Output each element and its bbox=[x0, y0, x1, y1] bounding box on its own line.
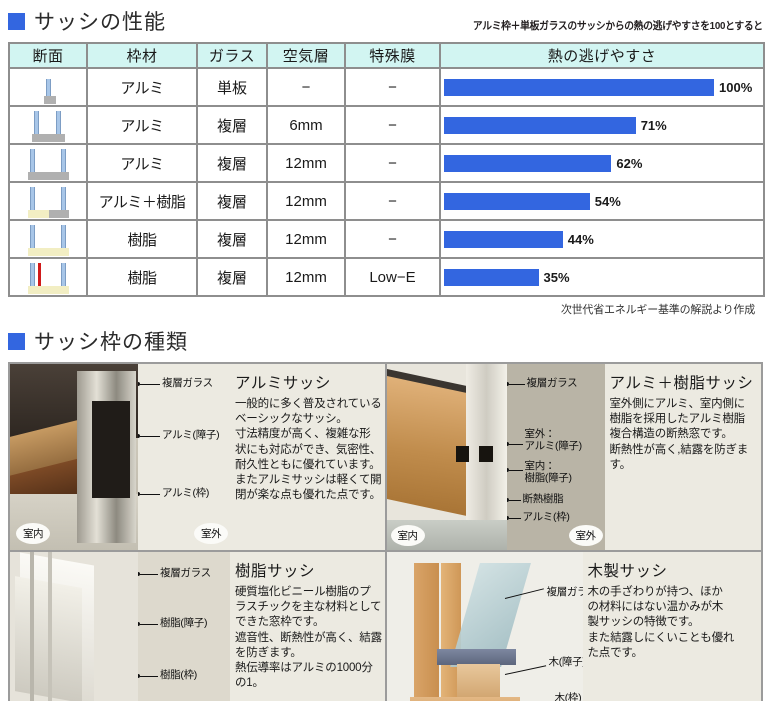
panel-1-text: アルミサッシ 一般的に多く普及されているベーシックなサッシ。寸法精度が高く、複雑… bbox=[230, 364, 385, 550]
cell-cross-section bbox=[9, 144, 87, 182]
panel-aluminium-sash[interactable]: 室内 複層ガラス アルミ(障子) アルミ(枠) 室外 アルミサッシ 一般的に多く… bbox=[10, 364, 385, 550]
performance-table-body: アルミ単板−−100%アルミ複層6mm−71%アルミ複層12mm−62%アルミ＋… bbox=[9, 68, 764, 296]
anno-2-5: 樹脂(障子) bbox=[525, 472, 572, 484]
cell-frame: アルミ bbox=[87, 68, 197, 106]
indoor-badge-2: 室内 bbox=[391, 525, 425, 546]
panel-3-title: 樹脂サッシ bbox=[235, 559, 379, 581]
cross-section-icon bbox=[20, 109, 76, 142]
performance-section-heading: サッシの性能 bbox=[0, 6, 166, 36]
performance-section-title: サッシの性能 bbox=[34, 6, 166, 36]
panel-4-title: 木製サッシ bbox=[588, 559, 756, 581]
cell-film: Low−E bbox=[345, 258, 440, 296]
cell-frame: アルミ bbox=[87, 144, 197, 182]
performance-section: サッシの性能 アルミ枠＋単板ガラスのサッシからの熱の逃げやすさを100とすると … bbox=[0, 0, 769, 317]
cross-section-icon bbox=[20, 185, 76, 218]
outdoor-badge-2: 室外 bbox=[569, 525, 603, 546]
heat-loss-bar bbox=[444, 269, 539, 286]
col-header-film: 特殊膜 bbox=[345, 43, 440, 68]
blue-square-bullet-icon bbox=[8, 333, 25, 350]
bar-value-label: 54% bbox=[590, 194, 621, 209]
col-header-frame: 枠材 bbox=[87, 43, 197, 68]
sash-types-grid: 室内 複層ガラス アルミ(障子) アルミ(枠) 室外 アルミサッシ 一般的に多く… bbox=[8, 362, 763, 701]
col-header-section: 断面 bbox=[9, 43, 87, 68]
wooden-sash-photo: 複層ガラス 木(障子) 木(枠) bbox=[387, 552, 583, 701]
aluminium-sash-photo: 室内 bbox=[10, 364, 138, 550]
cross-section-icon bbox=[20, 147, 76, 180]
cell-heat-loss-bar: 71% bbox=[440, 106, 764, 144]
cell-air: − bbox=[267, 68, 345, 106]
cell-air: 6mm bbox=[267, 106, 345, 144]
cell-glass: 複層 bbox=[197, 258, 267, 296]
panel-3-text: 樹脂サッシ 硬質塩化ビニール樹脂のプラスチックを主な材料としてできた窓枠です。遮… bbox=[230, 552, 385, 701]
heat-loss-bar bbox=[444, 231, 563, 248]
panel-2-text: アルミ＋樹脂サッシ 室外側にアルミ、室内側に樹脂を採用したアルミ樹脂複合構造の断… bbox=[605, 364, 762, 550]
col-header-air: 空気層 bbox=[267, 43, 345, 68]
performance-note: アルミ枠＋単板ガラスのサッシからの熱の逃げやすさを100とすると bbox=[473, 18, 763, 36]
bar-row: 35% bbox=[444, 269, 759, 286]
cell-heat-loss-bar: 44% bbox=[440, 220, 764, 258]
cell-glass: 複層 bbox=[197, 144, 267, 182]
bar-value-label: 100% bbox=[714, 80, 752, 95]
col-header-heatloss: 熱の逃げやすさ bbox=[440, 43, 764, 68]
types-section-heading: サッシ枠の種類 bbox=[0, 326, 769, 356]
bar-row: 71% bbox=[444, 117, 759, 134]
table-row: アルミ＋樹脂複層12mm−54% bbox=[9, 182, 764, 220]
cell-air: 12mm bbox=[267, 220, 345, 258]
anno-4-1: 複層ガラス bbox=[547, 586, 583, 598]
cell-glass: 複層 bbox=[197, 106, 267, 144]
aluminium-sash-annotations: 複層ガラス アルミ(障子) アルミ(枠) 室外 bbox=[138, 364, 230, 550]
sash-types-section: サッシ枠の種類 室内 複層ガラス アルミ(障子) アルミ(枠) 室外 bbox=[0, 326, 769, 701]
resin-sash-photo: 室内 bbox=[10, 552, 138, 701]
panel-4-text: 木製サッシ 木の手ざわりが持つ、ほかの材料にはない温かみが木製サッシの特徴です。… bbox=[583, 552, 762, 701]
panel-wooden-sash[interactable]: 複層ガラス 木(障子) 木(枠) 木製サッシ 木の手ざわりが持つ、ほかの材料には… bbox=[387, 552, 762, 701]
cell-cross-section bbox=[9, 220, 87, 258]
resin-sash-annotations: 複層ガラス 樹脂(障子) 樹脂(枠) 室外 bbox=[138, 552, 230, 701]
cell-film: − bbox=[345, 144, 440, 182]
table-header-row: 断面 枠材 ガラス 空気層 特殊膜 熱の逃げやすさ bbox=[9, 43, 764, 68]
cell-heat-loss-bar: 62% bbox=[440, 144, 764, 182]
cell-frame: 樹脂 bbox=[87, 220, 197, 258]
outdoor-badge-1: 室外 bbox=[194, 523, 228, 544]
anno-2-3: アルミ(障子) bbox=[525, 440, 582, 452]
bar-row: 100% bbox=[444, 79, 759, 96]
cell-glass: 複層 bbox=[197, 182, 267, 220]
cell-frame: アルミ bbox=[87, 106, 197, 144]
panel-1-desc: 一般的に多く普及されているベーシックなサッシ。寸法精度が高く、複雑な形状にも対応… bbox=[235, 397, 379, 503]
anno-1-1: 複層ガラス bbox=[162, 377, 213, 389]
cell-heat-loss-bar: 35% bbox=[440, 258, 764, 296]
anno-3-2: 樹脂(障子) bbox=[160, 617, 207, 629]
aluminium-resin-sash-photo: 室内 bbox=[387, 364, 507, 550]
bar-value-label: 35% bbox=[539, 270, 570, 285]
table-row: 樹脂複層12mm−44% bbox=[9, 220, 764, 258]
col-header-glass: ガラス bbox=[197, 43, 267, 68]
cell-frame: アルミ＋樹脂 bbox=[87, 182, 197, 220]
panel-resin-sash[interactable]: 室内 複層ガラス 樹脂(障子) 樹脂(枠) 室外 樹脂サッシ 硬質塩化ビニール樹… bbox=[10, 552, 385, 701]
performance-header-row: サッシの性能 アルミ枠＋単板ガラスのサッシからの熱の逃げやすさを100とすると bbox=[0, 6, 769, 36]
bar-value-label: 62% bbox=[611, 156, 642, 171]
panel-3-desc: 硬質塩化ビニール樹脂のプラスチックを主な材料としてできた窓枠です。遮音性、断熱性… bbox=[235, 585, 379, 691]
performance-table: 断面 枠材 ガラス 空気層 特殊膜 熱の逃げやすさ アルミ単板−−100%アルミ… bbox=[8, 42, 765, 297]
cell-air: 12mm bbox=[267, 144, 345, 182]
panel-1-title: アルミサッシ bbox=[235, 371, 379, 393]
bar-value-label: 71% bbox=[636, 118, 667, 133]
cell-cross-section bbox=[9, 106, 87, 144]
anno-3-1: 複層ガラス bbox=[160, 567, 211, 579]
anno-4-3: 木(枠) bbox=[555, 692, 582, 701]
heat-loss-bar bbox=[444, 79, 714, 96]
heat-loss-bar bbox=[444, 155, 611, 172]
performance-table-wrap: 断面 枠材 ガラス 空気層 特殊膜 熱の逃げやすさ アルミ単板−−100%アルミ… bbox=[0, 36, 769, 317]
cell-glass: 複層 bbox=[197, 220, 267, 258]
cell-frame: 樹脂 bbox=[87, 258, 197, 296]
cell-glass: 単板 bbox=[197, 68, 267, 106]
cell-film: − bbox=[345, 182, 440, 220]
cell-cross-section bbox=[9, 182, 87, 220]
anno-1-2: アルミ(障子) bbox=[162, 429, 219, 441]
anno-1-3: アルミ(枠) bbox=[162, 487, 209, 499]
cross-section-icon bbox=[20, 71, 76, 104]
cell-heat-loss-bar: 100% bbox=[440, 68, 764, 106]
anno-2-6: 断熱樹脂 bbox=[523, 493, 564, 505]
anno-3-3: 樹脂(枠) bbox=[160, 669, 197, 681]
cell-film: − bbox=[345, 68, 440, 106]
types-section-title: サッシ枠の種類 bbox=[34, 326, 188, 356]
bar-row: 54% bbox=[444, 193, 759, 210]
bar-row: 44% bbox=[444, 231, 759, 248]
cell-cross-section bbox=[9, 258, 87, 296]
cell-air: 12mm bbox=[267, 258, 345, 296]
heat-loss-bar bbox=[444, 193, 590, 210]
cell-air: 12mm bbox=[267, 182, 345, 220]
anno-2-2: 室外： bbox=[525, 428, 556, 440]
table-row: アルミ複層6mm−71% bbox=[9, 106, 764, 144]
cell-film: − bbox=[345, 106, 440, 144]
indoor-badge-1: 室内 bbox=[16, 523, 50, 544]
panel-4-desc: 木の手ざわりが持つ、ほかの材料にはない温かみが木製サッシの特徴です。また結露しに… bbox=[588, 585, 756, 661]
blue-square-bullet-icon bbox=[8, 13, 25, 30]
table-row: 樹脂複層12mmLow−E35% bbox=[9, 258, 764, 296]
anno-2-4: 室内： bbox=[525, 460, 556, 472]
aluminium-resin-sash-annotations: 複層ガラス 室外： アルミ(障子) 室内： 樹脂(障子) 断熱樹脂 アルミ(枠)… bbox=[507, 364, 605, 550]
bar-value-label: 44% bbox=[563, 232, 594, 247]
cross-section-icon bbox=[20, 261, 76, 294]
performance-source-note: 次世代省エネルギー基準の解説より作成 bbox=[8, 297, 763, 317]
anno-2-1: 複層ガラス bbox=[527, 377, 578, 389]
panel-2-title: アルミ＋樹脂サッシ bbox=[610, 371, 756, 393]
table-row: アルミ単板−−100% bbox=[9, 68, 764, 106]
panel-2-desc: 室外側にアルミ、室内側に樹脂を採用したアルミ樹脂複合構造の断熱窓です。断熱性が高… bbox=[610, 397, 756, 473]
heat-loss-bar bbox=[444, 117, 636, 134]
anno-2-7: アルミ(枠) bbox=[523, 511, 570, 523]
anno-4-2: 木(障子) bbox=[549, 656, 583, 668]
table-row: アルミ複層12mm−62% bbox=[9, 144, 764, 182]
cell-cross-section bbox=[9, 68, 87, 106]
bar-row: 62% bbox=[444, 155, 759, 172]
cross-section-icon bbox=[20, 223, 76, 256]
cell-heat-loss-bar: 54% bbox=[440, 182, 764, 220]
cell-film: − bbox=[345, 220, 440, 258]
panel-aluminium-resin-sash[interactable]: 室内 複層ガラス 室外： アルミ(障子) 室内： 樹脂(障子) 断熱樹脂 アルミ bbox=[387, 364, 762, 550]
